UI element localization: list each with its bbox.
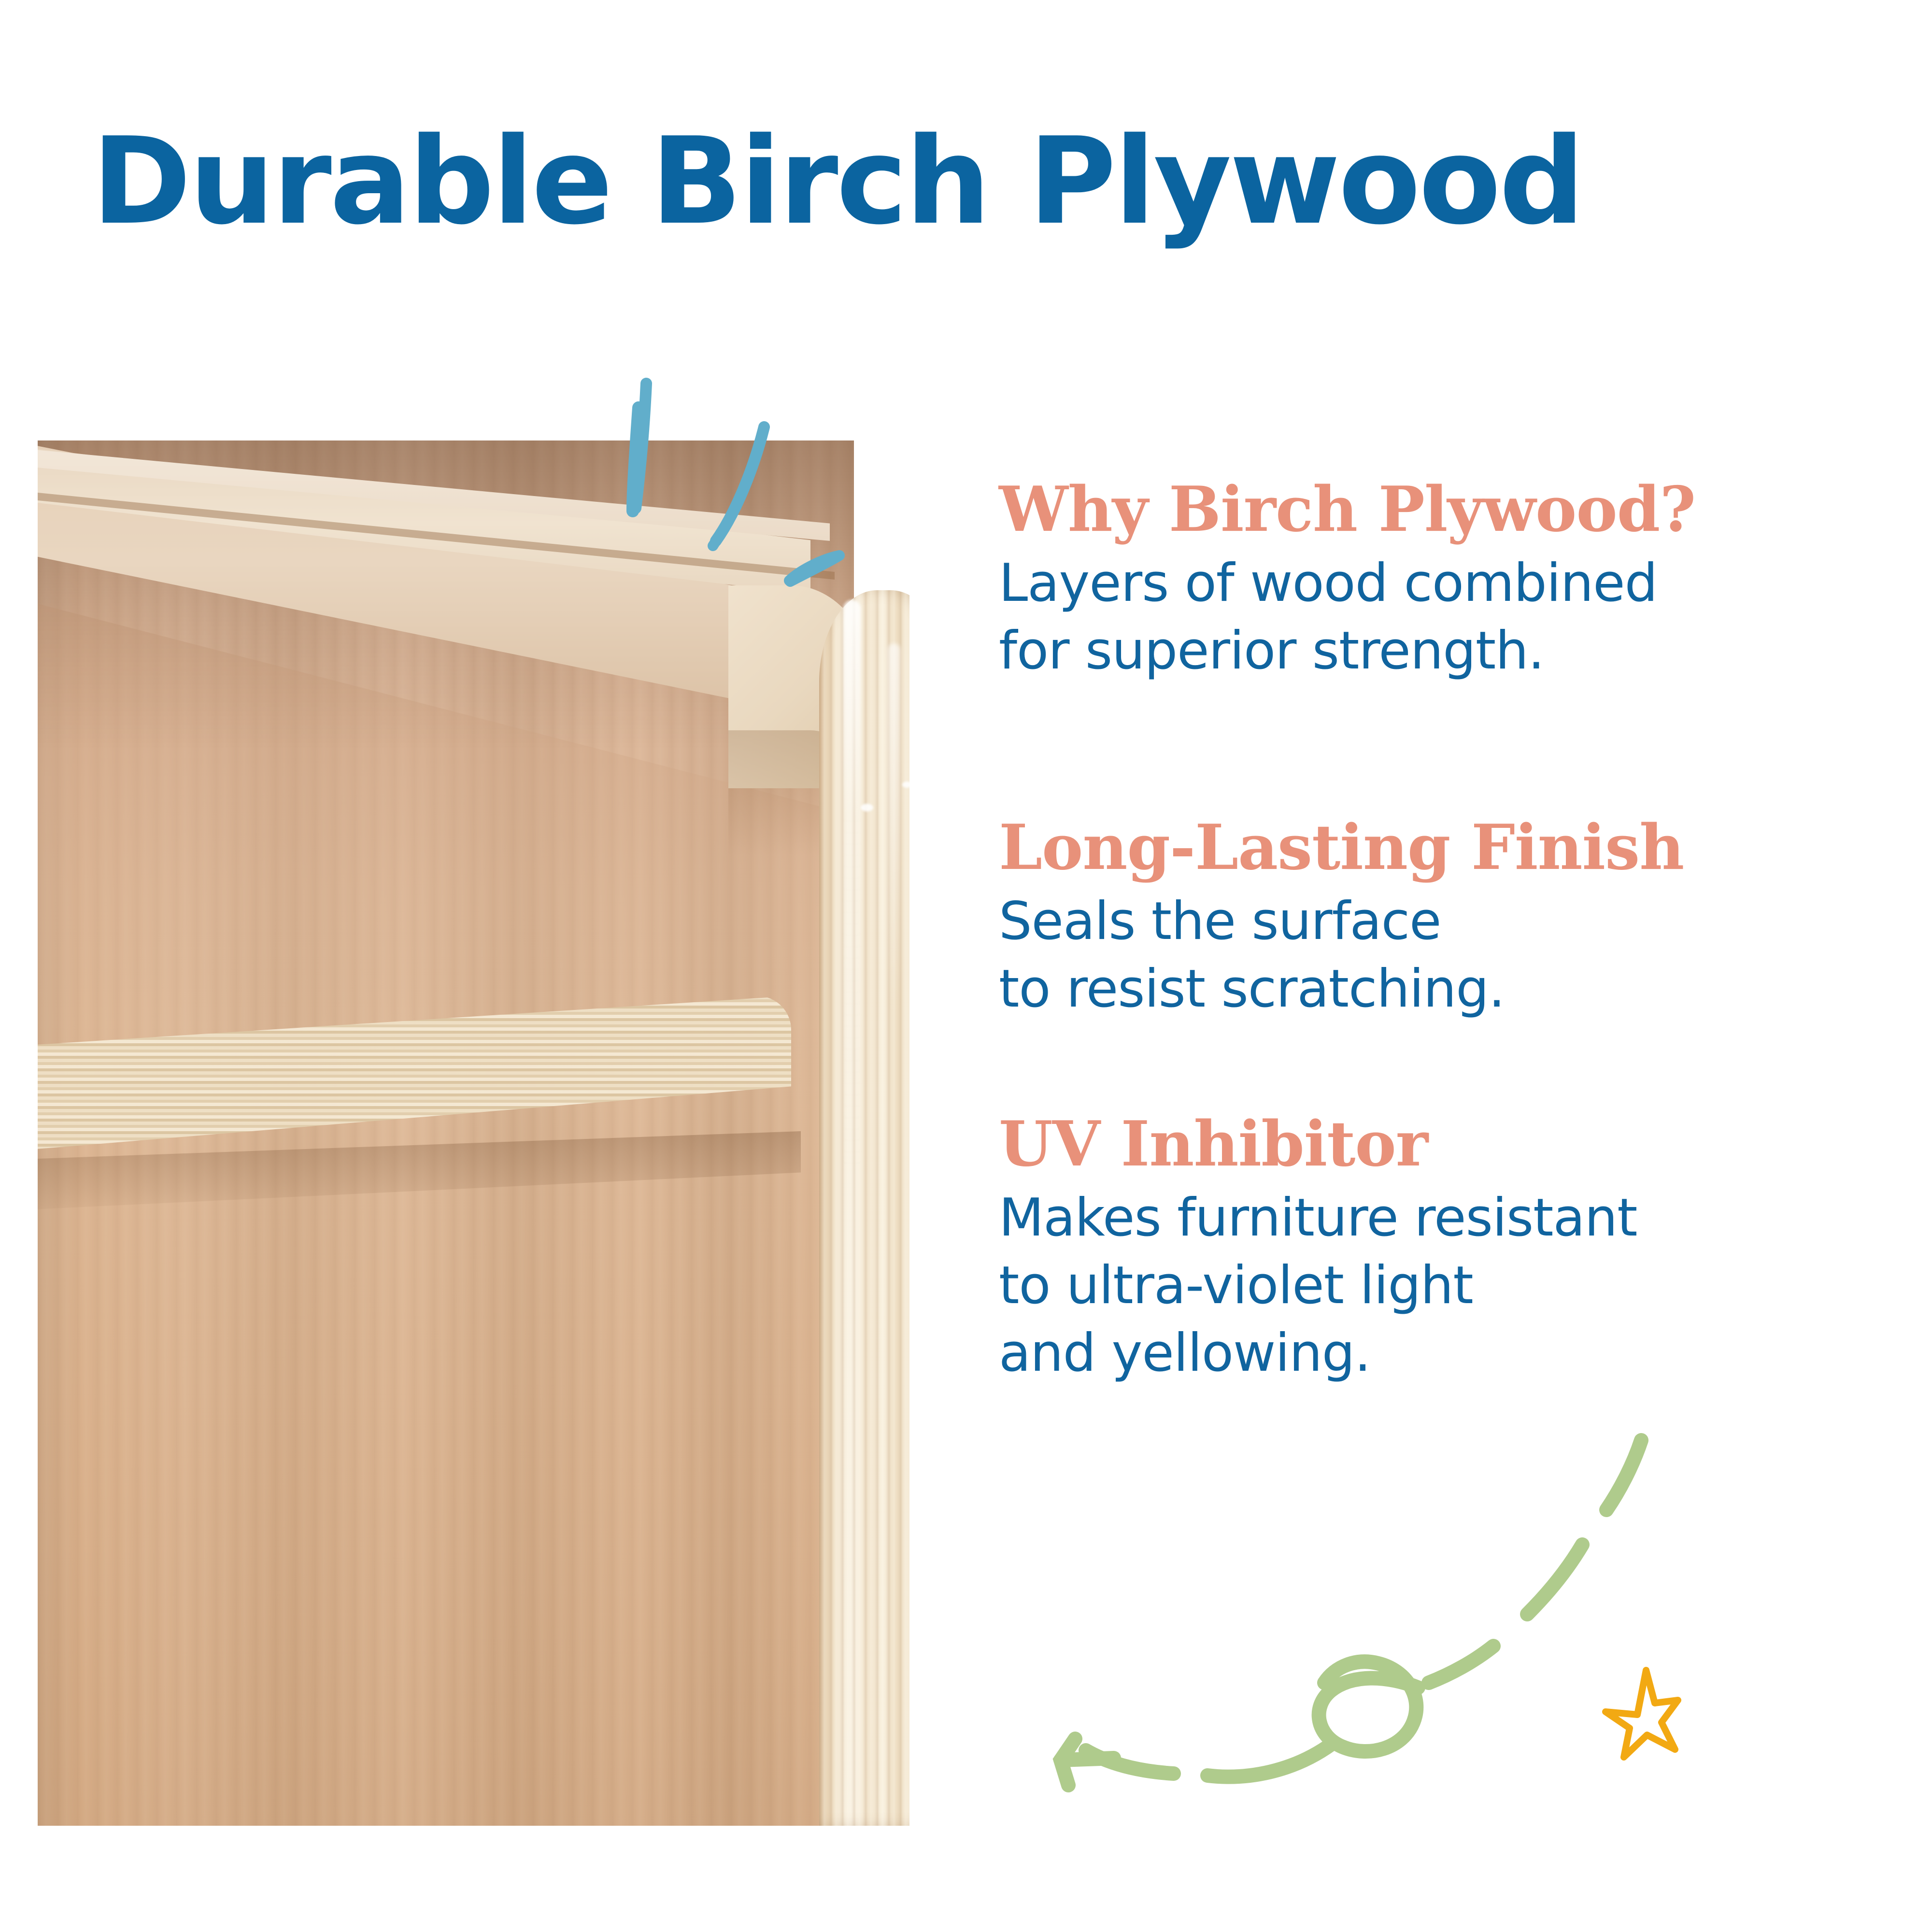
- blue-lens-mark-icon: [789, 555, 839, 582]
- plywood-edge-speckle: [861, 804, 873, 811]
- feature-heading: Long-Lasting Finish: [999, 815, 1868, 881]
- plywood-edge-highlight: [843, 600, 861, 1170]
- feature-body: Layers of wood combined for superior str…: [999, 550, 1868, 685]
- feature-body: Makes furniture resistant to ultra-viole…: [999, 1184, 1868, 1388]
- plywood-photo: [38, 440, 909, 1826]
- feature-body-line: Makes furniture resistant: [999, 1184, 1868, 1252]
- feature-heading: Why Birch Plywood?: [999, 477, 1868, 543]
- plywood-edge-speckle: [902, 781, 909, 788]
- feature-block-long-lasting-finish: Long-Lasting Finish Seals the surface to…: [999, 815, 1868, 1023]
- plywood-edge-highlight-secondary: [888, 643, 900, 1010]
- feature-block-why-birch-plywood: Why Birch Plywood? Layers of wood combin…: [999, 477, 1868, 685]
- feature-block-uv-inhibitor: UV Inhibitor Makes furniture resistant t…: [999, 1112, 1868, 1388]
- feature-body-line: for superior strength.: [999, 617, 1868, 685]
- feature-body-line: and yellowing.: [999, 1320, 1868, 1387]
- blue-sparkle-marks-icon: [594, 367, 865, 599]
- feature-heading: UV Inhibitor: [999, 1112, 1868, 1178]
- feature-list: Why Birch Plywood? Layers of wood combin…: [999, 0, 1868, 1932]
- feature-body: Seals the surface to resist scratching.: [999, 888, 1868, 1023]
- infographic-canvas: Durable Birch Plywood: [0, 0, 1932, 1932]
- feature-body-line: Seals the surface: [999, 888, 1868, 955]
- feature-body-line: to ultra-violet light: [999, 1252, 1868, 1320]
- feature-body-line: Layers of wood combined: [999, 550, 1868, 617]
- feature-body-line: to resist scratching.: [999, 955, 1868, 1023]
